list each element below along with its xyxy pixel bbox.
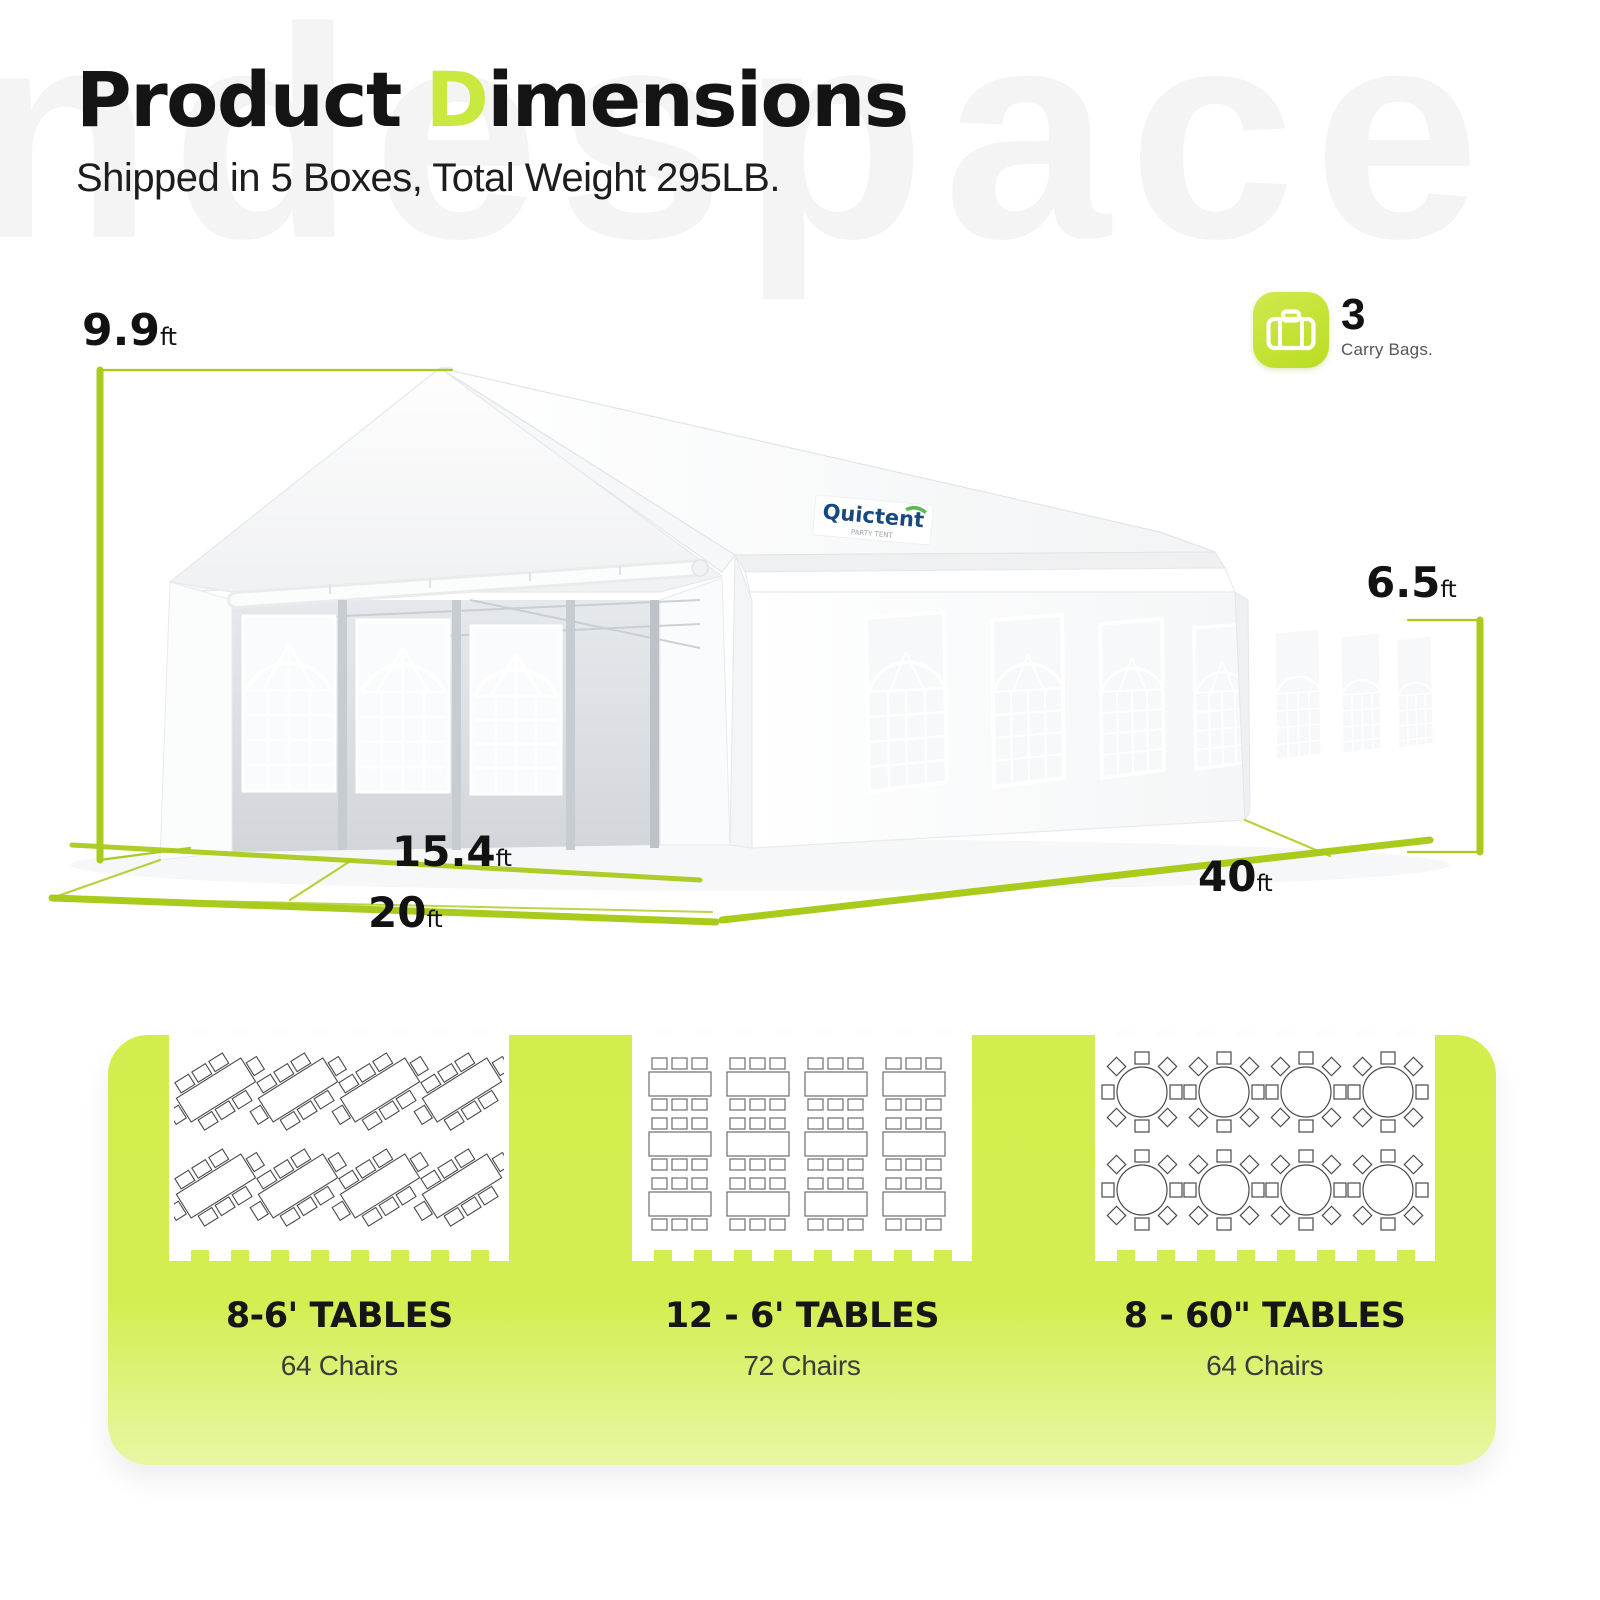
front-window-group [243, 616, 561, 794]
seating-option: 8-6' TABLES 64 Chairs [149, 1035, 529, 1382]
front-window [471, 626, 561, 794]
front-right-curtain [660, 578, 730, 845]
side-wall-corner [730, 555, 752, 848]
dim-value-height: 9.9 [82, 305, 160, 356]
dim-unit-sideheight: ft [1440, 577, 1456, 603]
page-title: Product Dimensions [76, 62, 908, 138]
front-window [243, 616, 335, 791]
dim-value-sideheight: 6.5 [1366, 558, 1440, 607]
dim-unit-width: ft [426, 907, 442, 933]
seating-option: 12 - 6' TABLES 72 Chairs [612, 1035, 992, 1382]
seating-diagram-card [632, 1035, 972, 1250]
page-title-part2: imensions [487, 55, 907, 144]
infographic-page: ndespace Product Dimensions Shipped in 5… [0, 0, 1600, 1600]
seating-diagram-card [169, 1035, 509, 1250]
side-window [992, 615, 1064, 787]
layout-diagram-rect-angled [174, 1040, 504, 1245]
page-subtitle: Shipped in 5 Boxes, Total Weight 295LB. [76, 156, 908, 201]
dim-unit-span: ft [496, 846, 512, 872]
layout-diagram-round [1100, 1040, 1430, 1245]
dim-value-width: 20 [368, 888, 426, 937]
seating-option-title: 8 - 60" TABLES [1124, 1296, 1406, 1336]
dimension-label-length: 40ft [1198, 852, 1272, 901]
seating-option-chairs: 72 Chairs [743, 1350, 860, 1382]
dim-unit-height: ft [160, 323, 177, 351]
dimension-label-height: 9.9ft [82, 305, 177, 356]
seating-diagram-card [1095, 1035, 1435, 1250]
dim-value-span: 15.4 [392, 827, 496, 876]
dimension-label-sideheight: 6.5ft [1366, 558, 1456, 607]
tent-svg: Quictent PARTY TENT [0, 300, 1600, 1000]
side-window [1274, 628, 1322, 761]
seating-option-chairs: 64 Chairs [281, 1350, 398, 1382]
dim-value-length: 40 [1198, 852, 1256, 901]
dimension-label-width: 20ft [368, 888, 442, 937]
side-window [866, 612, 947, 792]
seating-option-title: 8-6' TABLES [226, 1296, 453, 1336]
header: Product Dimensions Shipped in 5 Boxes, T… [76, 62, 908, 201]
front-window [357, 620, 449, 792]
seating-option-chairs: 64 Chairs [1206, 1350, 1323, 1382]
dim-unit-length: ft [1256, 871, 1272, 897]
dimension-label-span: 15.4ft [392, 827, 511, 876]
seating-options-panel: 8-6' TABLES 64 Chairs [108, 1035, 1496, 1465]
layout-diagram-rect [637, 1040, 967, 1245]
tent-illustration: Quictent PARTY TENT [0, 300, 1600, 1000]
side-window [1100, 619, 1164, 778]
seating-option-title: 12 - 6' TABLES [665, 1296, 939, 1336]
page-title-highlight: D [426, 55, 488, 144]
side-window [1396, 635, 1434, 749]
side-window [1340, 632, 1382, 754]
seating-option: 8 - 60" TABLES 64 Chairs [1075, 1035, 1455, 1382]
page-title-part1: Product [76, 55, 426, 144]
front-left-curtain [160, 582, 232, 860]
